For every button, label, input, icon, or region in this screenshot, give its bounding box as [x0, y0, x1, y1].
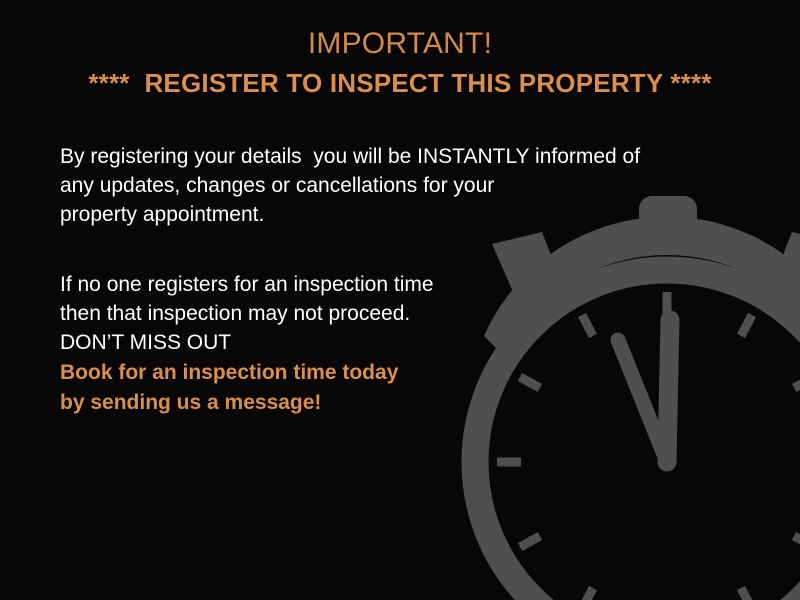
heading-block: IMPORTANT! **** REGISTER TO INSPECT THIS… [0, 24, 800, 102]
cta-send-message: by sending us a message! [60, 388, 720, 418]
cta-dont-miss-out: DON’T MISS OUT [60, 328, 720, 358]
cta-book-inspection: Book for an inspection time today [60, 358, 720, 388]
page-subtitle: **** REGISTER TO INSPECT THIS PROPERTY *… [0, 64, 800, 102]
body-block: By registering your details you will be … [60, 142, 720, 418]
slide-content: IMPORTANT! **** REGISTER TO INSPECT THIS… [0, 0, 800, 600]
promotional-slide: IMPORTANT! **** REGISTER TO INSPECT THIS… [0, 0, 800, 600]
body-paragraph-2-line-1: If no one registers for an inspection ti… [60, 270, 720, 299]
body-paragraph-1-line-2: any updates, changes or cancellations fo… [60, 171, 720, 200]
body-paragraph-1-line-1: By registering your details you will be … [60, 142, 720, 171]
page-title: IMPORTANT! [0, 24, 800, 64]
body-paragraph-1-line-3: property appointment. [60, 200, 720, 229]
body-paragraph-2-line-2: then that inspection may not proceed. [60, 299, 720, 328]
